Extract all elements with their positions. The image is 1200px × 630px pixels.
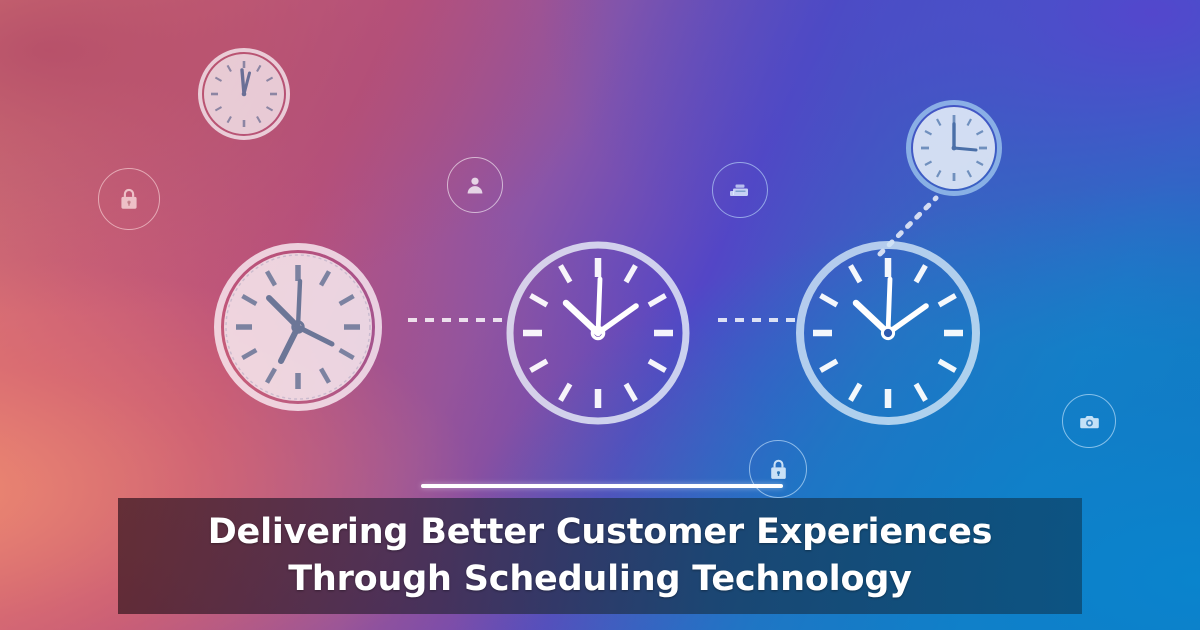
badge-lock-left xyxy=(98,168,160,230)
clock-large-right xyxy=(795,240,981,426)
connector-left-center xyxy=(406,312,506,328)
clock-small-top-right xyxy=(906,100,1002,196)
lock-icon xyxy=(116,186,142,212)
clock-small-top-left xyxy=(198,48,290,140)
card-icon xyxy=(727,177,753,203)
clock-small-top-left-dial xyxy=(198,48,290,140)
user-icon xyxy=(463,173,487,197)
title-divider-rule xyxy=(421,484,783,488)
clock-large-left-dial xyxy=(214,243,382,411)
hero-banner: Delivering Better Customer Experiences T… xyxy=(0,0,1200,630)
badge-lock-bottom xyxy=(749,440,807,498)
clock-large-left xyxy=(214,243,382,411)
camera-icon xyxy=(1078,410,1101,433)
page-title-line-2: Through Scheduling Technology xyxy=(288,556,912,603)
badge-camera xyxy=(1062,394,1116,448)
lock-icon xyxy=(766,457,791,482)
title-banner: Delivering Better Customer Experiences T… xyxy=(118,498,1082,614)
connector-center-right xyxy=(716,312,798,328)
badge-user xyxy=(447,157,503,213)
clock-large-center-dial xyxy=(505,240,691,426)
clock-large-right-dial xyxy=(795,240,981,426)
clock-small-top-right-dial xyxy=(906,100,1002,196)
clock-large-center xyxy=(505,240,691,426)
page-title-line-1: Delivering Better Customer Experiences xyxy=(208,509,993,556)
badge-card xyxy=(712,162,768,218)
